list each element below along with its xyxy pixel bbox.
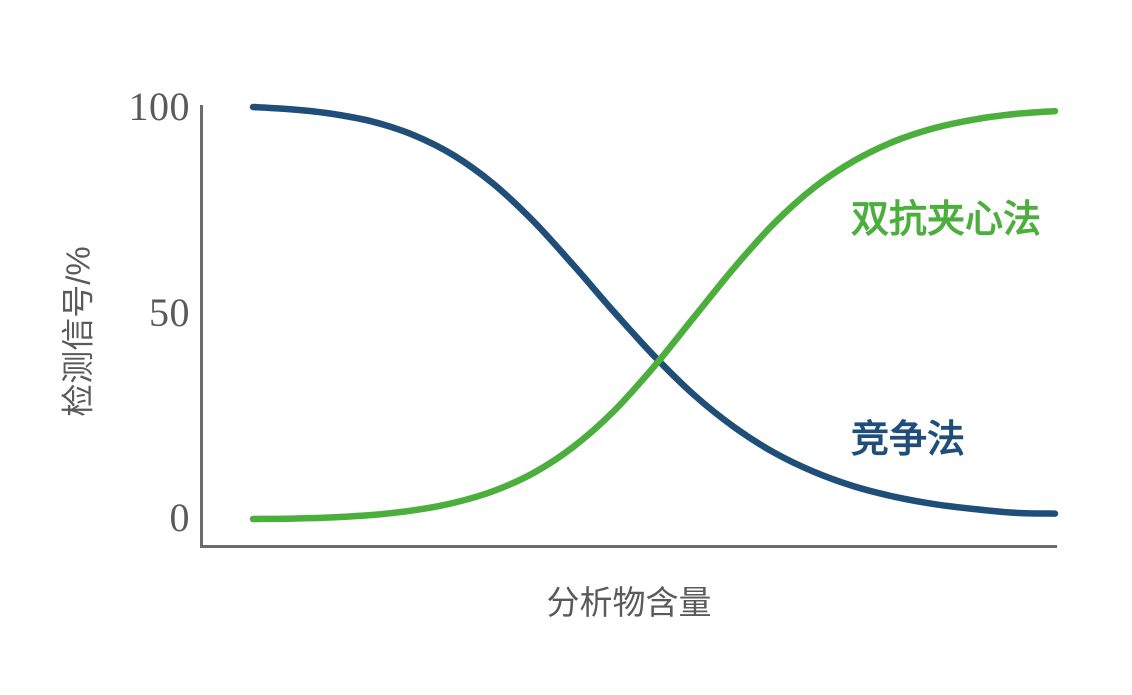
- series-label-sandwich: 双抗夹心法: [851, 201, 1041, 239]
- y-tick-label-50: 50: [149, 293, 190, 333]
- chart-container: 100 50 0 检测信号/% 分析物含量 双抗夹心法 竞争法: [0, 0, 1132, 695]
- y-tick-label-100: 100: [129, 87, 191, 127]
- y-tick-label-0: 0: [170, 498, 191, 538]
- series-label-competitive: 竞争法: [851, 421, 965, 459]
- y-axis-title: 检测信号/%: [62, 192, 95, 472]
- x-axis-title: 分析物含量: [200, 586, 1058, 619]
